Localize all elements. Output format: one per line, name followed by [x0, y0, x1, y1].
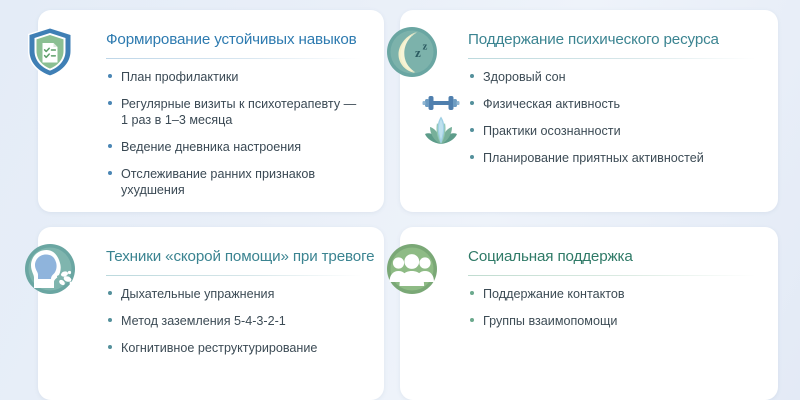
card-emergency-techniques: Техники «скорой помощи» при тревоге Дыха…	[38, 227, 384, 400]
list-item-label-line2: 1 раз в 1–3 месяца	[121, 112, 370, 128]
list-item-label: Физическая активность	[483, 97, 620, 111]
bullet-list: Здоровый сон Физическая активность	[400, 59, 778, 166]
bullet-dot	[108, 345, 112, 349]
bullet-dot	[108, 101, 112, 105]
bullet-dot	[470, 291, 474, 295]
card-header: Поддержание психического ресурса	[456, 10, 778, 59]
bullet-list: Дыхательные упражнения Метод заземления …	[38, 276, 384, 356]
list-item: Регулярные визиты к психотерапевту — 1 р…	[108, 96, 370, 128]
list-item: План профилактики	[108, 69, 370, 85]
list-item-label: Отслеживание ранних признаков ухудшения	[121, 167, 315, 197]
card-header: Техники «скорой помощи» при тревоге	[94, 227, 384, 276]
list-item: Группы взаимопомощи	[470, 313, 764, 329]
list-item-label: Здоровый сон	[483, 70, 566, 84]
list-item-label: Дыхательные упражнения	[121, 287, 274, 301]
list-item-label: Регулярные визиты к психотерапевту —	[121, 97, 356, 111]
bullet-dot	[470, 74, 474, 78]
card-header: Социальная поддержка	[456, 227, 778, 276]
list-item-label: Когнитивное реструктурирование	[121, 341, 317, 355]
card-social-support: Социальная поддержка Поддержание контакт…	[400, 227, 778, 400]
bullet-list: План профилактики Регулярные визиты к пс…	[38, 59, 384, 199]
card-title: Поддержание психического ресурса	[468, 32, 760, 49]
lotus-icon	[422, 114, 460, 146]
bullet-dot	[470, 155, 474, 159]
list-item: Планирование приятных активностей	[470, 150, 764, 166]
list-item-label: План профилактики	[121, 70, 238, 84]
list-item: Дыхательные упражнения	[108, 286, 370, 302]
list-item: Поддержание контактов	[470, 286, 764, 302]
bullet-dot	[108, 291, 112, 295]
people-group-icon	[384, 241, 440, 297]
shield-checklist-icon	[22, 24, 78, 80]
svg-text:z: z	[415, 45, 421, 60]
card-mental-resource: z z Поддержание психического ресурса Здо…	[400, 10, 778, 212]
list-item: Физическая активность	[470, 96, 764, 112]
bullet-dot	[470, 101, 474, 105]
list-item: Здоровый сон	[470, 69, 764, 85]
list-item-label: Метод заземления 5-4-3-2-1	[121, 314, 286, 328]
card-title: Формирование устойчивых навыков	[106, 32, 366, 49]
bullet-list: Поддержание контактов Группы взаимопомощ…	[400, 276, 778, 329]
head-breathing-icon	[22, 241, 78, 297]
bullet-dot	[470, 128, 474, 132]
infographic-board: Формирование устойчивых навыков План про…	[0, 0, 800, 400]
card-header: Формирование устойчивых навыков	[94, 10, 384, 59]
list-item-label: Планирование приятных активностей	[483, 151, 704, 165]
list-item-label: Группы взаимопомощи	[483, 314, 617, 328]
card-skills: Формирование устойчивых навыков План про…	[38, 10, 384, 212]
list-item: Когнитивное реструктурирование	[108, 340, 370, 356]
bullet-dot	[108, 318, 112, 322]
dumbbell-icon	[422, 90, 460, 116]
moon-sleep-icon: z z	[384, 24, 440, 80]
list-item-label: Поддержание контактов	[483, 287, 625, 301]
list-item: Практики осознанности	[470, 123, 764, 139]
bullet-dot	[108, 144, 112, 148]
list-item-label: Практики осознанности	[483, 124, 621, 138]
list-item: Метод заземления 5-4-3-2-1	[108, 313, 370, 329]
bullet-dot	[108, 171, 112, 175]
bullet-dot	[108, 74, 112, 78]
svg-text:z: z	[423, 41, 428, 53]
list-item: Отслеживание ранних признаков ухудшения	[108, 166, 370, 198]
list-item-label: Ведение дневника настроения	[121, 140, 301, 154]
card-title: Техники «скорой помощи» при тревоге	[106, 249, 366, 266]
list-item: Ведение дневника настроения	[108, 139, 370, 155]
bullet-dot	[470, 318, 474, 322]
card-title: Социальная поддержка	[468, 249, 760, 266]
